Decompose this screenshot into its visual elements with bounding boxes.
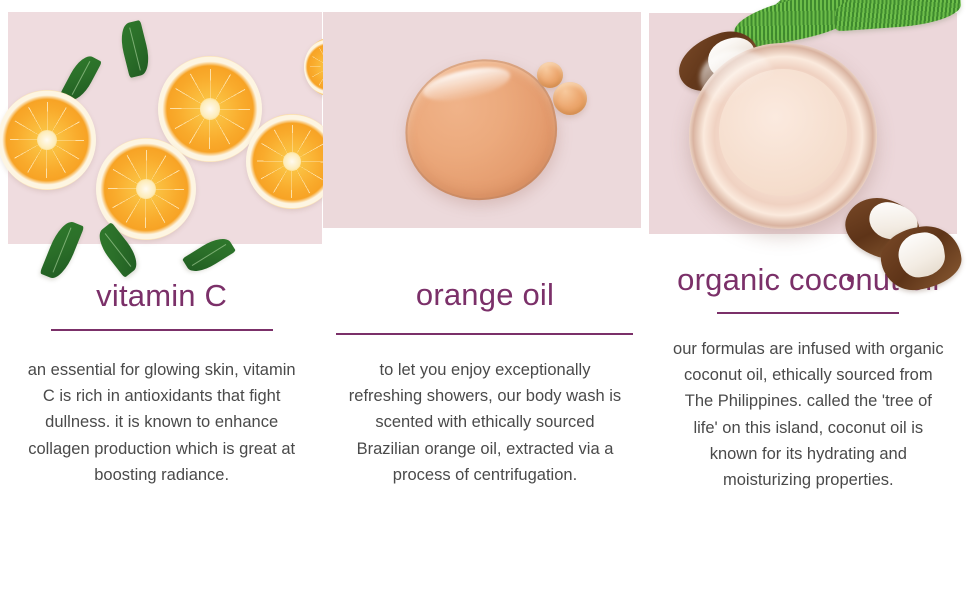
palm-frond-icon xyxy=(834,0,962,31)
orange-slice-icon xyxy=(0,90,96,190)
title-divider xyxy=(51,329,273,331)
image-panel-vitamin-c xyxy=(8,12,322,244)
ingredient-image-vitamin-c xyxy=(0,0,323,250)
ingredient-description-vitamin-c: an essential for glowing skin, vitamin C… xyxy=(12,357,312,487)
ingredient-column-vitamin-c: vitamin C an essential for glowing skin,… xyxy=(0,0,323,600)
ingredient-column-orange-oil: orange oil to let you enjoy exceptionall… xyxy=(323,0,646,600)
title-divider xyxy=(717,312,899,314)
citrus-leaf-icon xyxy=(117,20,153,78)
ingredient-description-orange-oil: to let you enjoy exceptionally refreshin… xyxy=(333,357,637,487)
ingredient-title-orange-oil: orange oil xyxy=(323,277,646,312)
coconut-oil-bowl-icon xyxy=(689,43,877,229)
ingredient-image-organic-coconut-oil xyxy=(647,0,970,250)
citrus-leaf-icon xyxy=(40,218,85,283)
ingredient-image-orange-oil xyxy=(323,0,646,250)
ingredient-title-vitamin-c: vitamin C xyxy=(0,278,323,313)
accent-dot xyxy=(847,275,854,282)
image-panel-orange-oil xyxy=(323,12,641,228)
citrus-leaf-icon xyxy=(182,232,236,277)
image-panel-organic-coconut-oil xyxy=(649,13,957,234)
title-divider xyxy=(336,333,633,335)
ingredients-board: vitamin C an essential for glowing skin,… xyxy=(0,0,970,600)
ingredient-description-organic-coconut-oil: our formulas are infused with organic co… xyxy=(658,336,958,492)
coconut-flesh xyxy=(895,230,947,279)
ingredient-column-organic-coconut-oil: organic coconut oil our formulas are inf… xyxy=(647,0,970,600)
oil-droplet-icon xyxy=(553,82,587,115)
